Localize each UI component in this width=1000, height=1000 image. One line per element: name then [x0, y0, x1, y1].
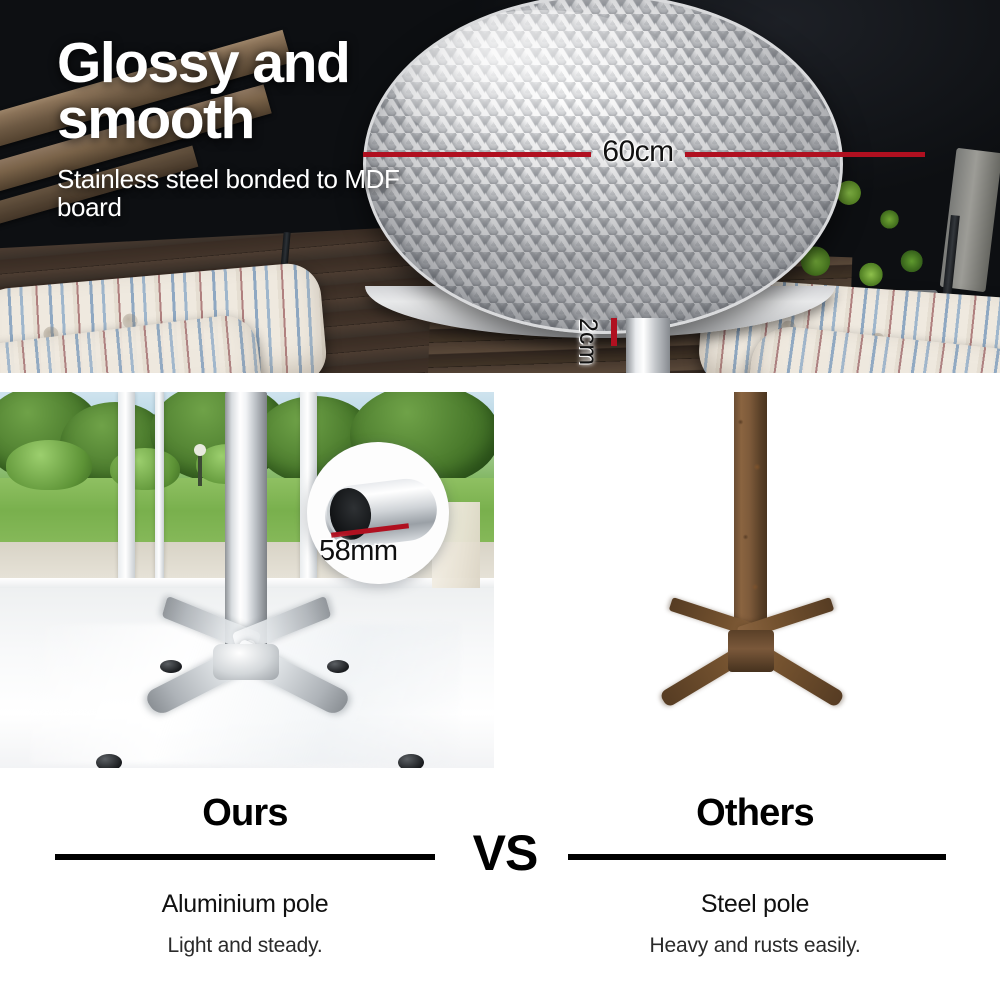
diameter-line-right	[685, 152, 925, 157]
divider-rule-right	[568, 854, 946, 860]
diameter-label: 60cm	[595, 132, 681, 172]
foot-pad	[327, 660, 349, 673]
column-note-others: Heavy and rusts easily.	[545, 932, 965, 960]
column-heading: Others	[545, 790, 965, 836]
foot-pad	[398, 754, 424, 768]
window-frame	[155, 392, 164, 597]
vs-label: VS	[455, 822, 555, 884]
photo-aluminium-base	[0, 392, 494, 768]
divider-rule-left	[55, 854, 435, 860]
product-feature-page: 60cm 2cm Glossy and smooth Stainless ste…	[0, 0, 1000, 1000]
hero-title: Glossy and smooth	[57, 36, 417, 148]
pole-diameter-callout: 58mm	[307, 442, 449, 584]
column-note-ours: Light and steady.	[35, 932, 455, 960]
hero-subtitle: Stainless steel bonded to MDF board	[57, 165, 417, 222]
base-hub	[728, 630, 774, 672]
comparison-column-ours: Ours	[35, 790, 455, 836]
hero-copy: Glossy and smooth Stainless steel bonded…	[57, 36, 417, 222]
thickness-tick	[611, 318, 617, 346]
thickness-label: 2cm	[575, 318, 601, 373]
window-frame	[118, 392, 135, 597]
steel-pole	[734, 392, 767, 642]
base-hub	[213, 644, 279, 680]
foot-pad	[160, 660, 182, 673]
garden-lamp	[198, 452, 202, 486]
table-pole	[626, 318, 670, 373]
hero-panel: 60cm 2cm Glossy and smooth Stainless ste…	[0, 0, 1000, 373]
column-subtitle-others: Steel pole	[545, 888, 965, 920]
column-heading: Ours	[35, 790, 455, 836]
comparison-column-others: Others	[545, 790, 965, 836]
column-subtitle-ours: Aluminium pole	[35, 888, 455, 920]
bush	[6, 440, 92, 490]
photo-steel-base	[506, 392, 1000, 768]
pole-diameter-label: 58mm	[319, 534, 441, 568]
foot-pad	[96, 754, 122, 768]
